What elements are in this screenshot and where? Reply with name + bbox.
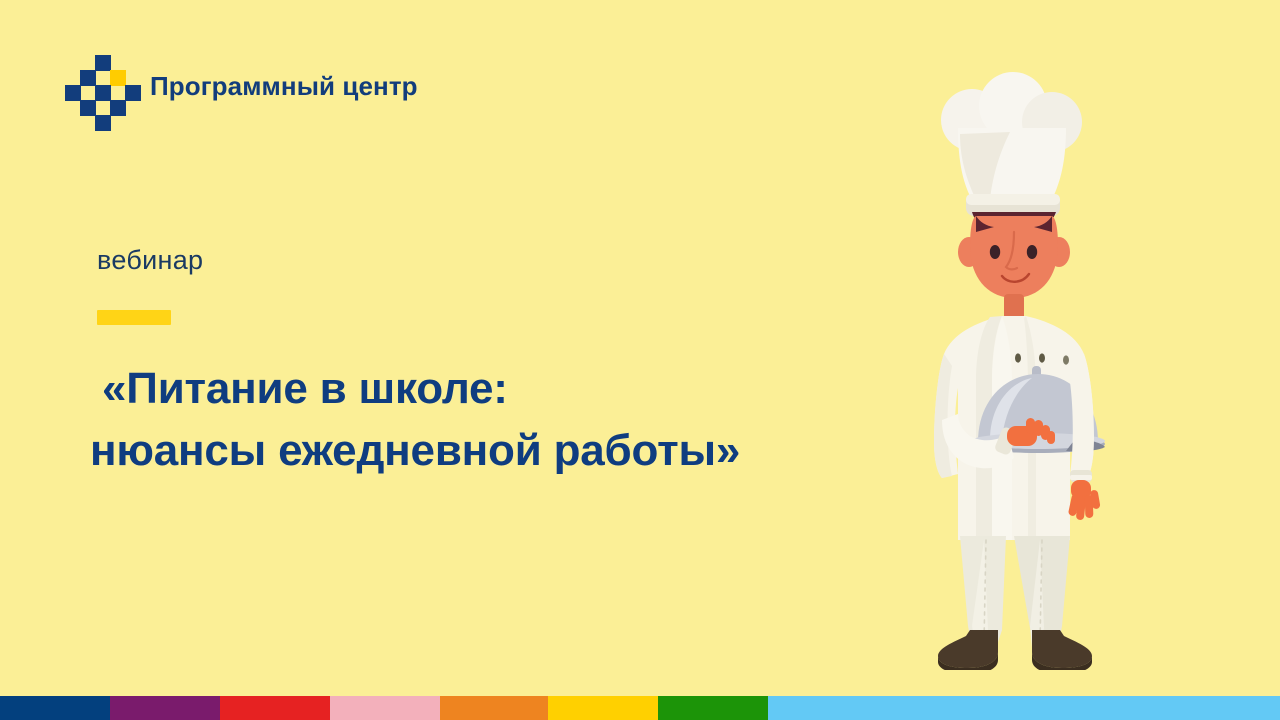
brand-logo-text: Программный центр [150, 71, 418, 102]
colorbar-segment-1 [0, 696, 110, 720]
colorbar-segment-6 [548, 696, 658, 720]
chef-eye-right [1027, 245, 1037, 259]
colorbar-segment-8 [768, 696, 1280, 720]
page-title-line-1: «Питание в школе: [90, 358, 910, 420]
brand-logo: Программный центр [72, 55, 418, 117]
chef-eye-left [990, 245, 1000, 259]
programmny-centr-logo-icon [72, 55, 134, 117]
page-title: «Питание в школе: нюансы ежедневной рабо… [90, 358, 910, 482]
colorbar-segment-2 [110, 696, 220, 720]
chef-with-cloche-illustration [880, 70, 1140, 670]
kicker-label: вебинар [97, 245, 203, 276]
colorbar-segment-3 [220, 696, 330, 720]
accent-underline-bar [97, 310, 171, 325]
bottom-color-strip [0, 696, 1280, 720]
colorbar-segment-4 [330, 696, 440, 720]
page-title-line-2: нюансы ежедневной работы» [90, 420, 910, 482]
colorbar-segment-7 [658, 696, 768, 720]
colorbar-segment-5 [440, 696, 548, 720]
chef-shoes [938, 630, 1092, 670]
chef-hat [941, 72, 1082, 216]
webinar-title-slide: Программный центр вебинар «Питание в шко… [0, 0, 1280, 720]
